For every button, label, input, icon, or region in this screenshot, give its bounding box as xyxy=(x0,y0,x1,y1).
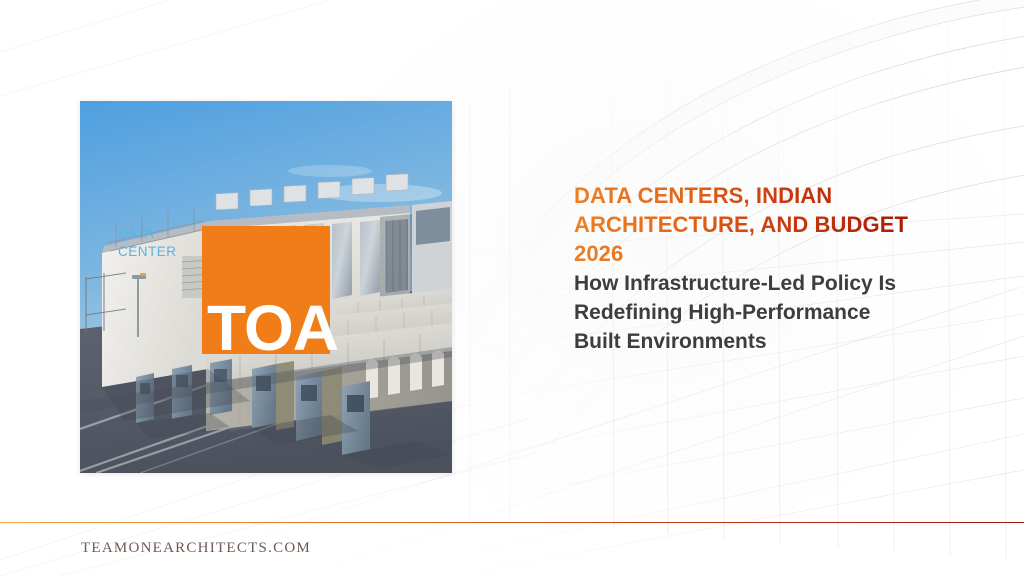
page-title: DATA CENTERS, INDIAN ARCHITECTURE, AND B… xyxy=(574,181,914,268)
building-sign-line1: DATA xyxy=(118,226,154,241)
page-subtitle: How Infrastructure-Led Policy Is Redefin… xyxy=(574,269,914,356)
toa-logo-wordmark: TOA xyxy=(207,296,367,360)
footer-divider xyxy=(0,522,1024,523)
slide-text-block: DATA CENTERS, INDIAN ARCHITECTURE, AND B… xyxy=(574,181,914,356)
building-sign-line2: CENTER xyxy=(118,244,177,259)
footer-website-url: TEAMONEARCHITECTS.COM xyxy=(81,540,311,557)
